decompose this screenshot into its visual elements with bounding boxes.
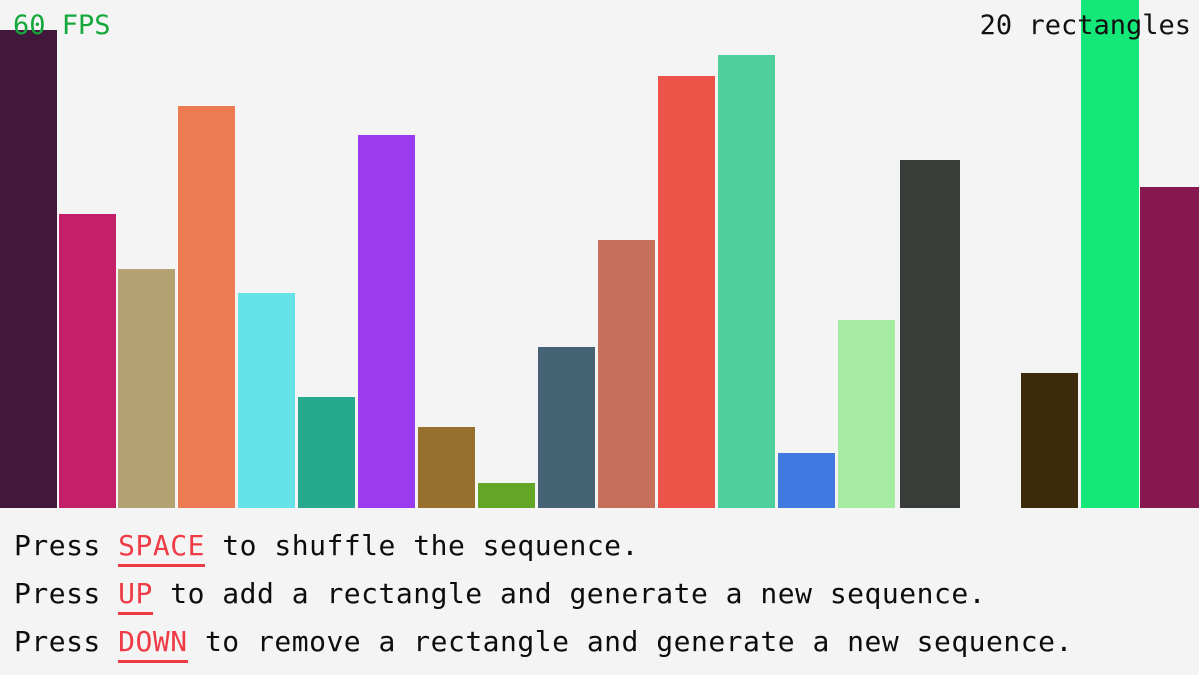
instruction-line-remove: Press DOWN to remove a rectangle and gen… — [14, 625, 1073, 658]
fps-counter: 60 FPS — [13, 12, 111, 39]
instruction-line-add: Press UP to add a rectangle and generate… — [14, 577, 986, 610]
instruction-prefix: Press — [14, 529, 118, 562]
bar-8-brown-ochre — [418, 427, 475, 508]
bar-15-pale-green — [838, 320, 895, 508]
bar-12-red — [658, 76, 715, 508]
bar-17-dark-brown — [1021, 373, 1078, 508]
instructions-panel: Press SPACE to shuffle the sequence. Pre… — [0, 508, 1199, 675]
instruction-prefix: Press — [14, 577, 118, 610]
bar-16-dark-gray — [900, 160, 960, 508]
bar-18-bright-green — [1081, 0, 1139, 508]
instruction-prefix: Press — [14, 625, 118, 658]
instruction-suffix: to add a rectangle and generate a new se… — [153, 577, 986, 610]
instruction-line-shuffle: Press SPACE to shuffle the sequence. — [14, 529, 639, 562]
instruction-suffix: to remove a rectangle and generate a new… — [188, 625, 1073, 658]
bar-9-olive-green — [478, 483, 535, 508]
bar-7-purple — [358, 135, 415, 508]
bar-13-mint-green — [718, 55, 775, 508]
bar-5-cyan — [238, 293, 295, 508]
bar-3-tan — [118, 269, 175, 508]
key-down[interactable]: DOWN — [118, 625, 187, 663]
bar-6-teal — [298, 397, 355, 508]
rectangle-count-label: 20 rectangles — [980, 12, 1191, 39]
key-up[interactable]: UP — [118, 577, 153, 615]
bar-1-dark-plum — [0, 30, 57, 508]
bar-19-dark-magenta — [1140, 187, 1199, 508]
instruction-suffix: to shuffle the sequence. — [205, 529, 639, 562]
bar-2-magenta — [59, 214, 116, 508]
bar-14-blue — [778, 453, 835, 508]
app-canvas: 60 FPS 20 rectangles Press SPACE to shuf… — [0, 0, 1199, 675]
bar-4-orange — [178, 106, 235, 508]
rectangle-sequence-plot — [0, 0, 1199, 508]
key-space[interactable]: SPACE — [118, 529, 205, 567]
bar-10-slate-blue — [538, 347, 595, 508]
bar-11-salmon-brown — [598, 240, 655, 508]
